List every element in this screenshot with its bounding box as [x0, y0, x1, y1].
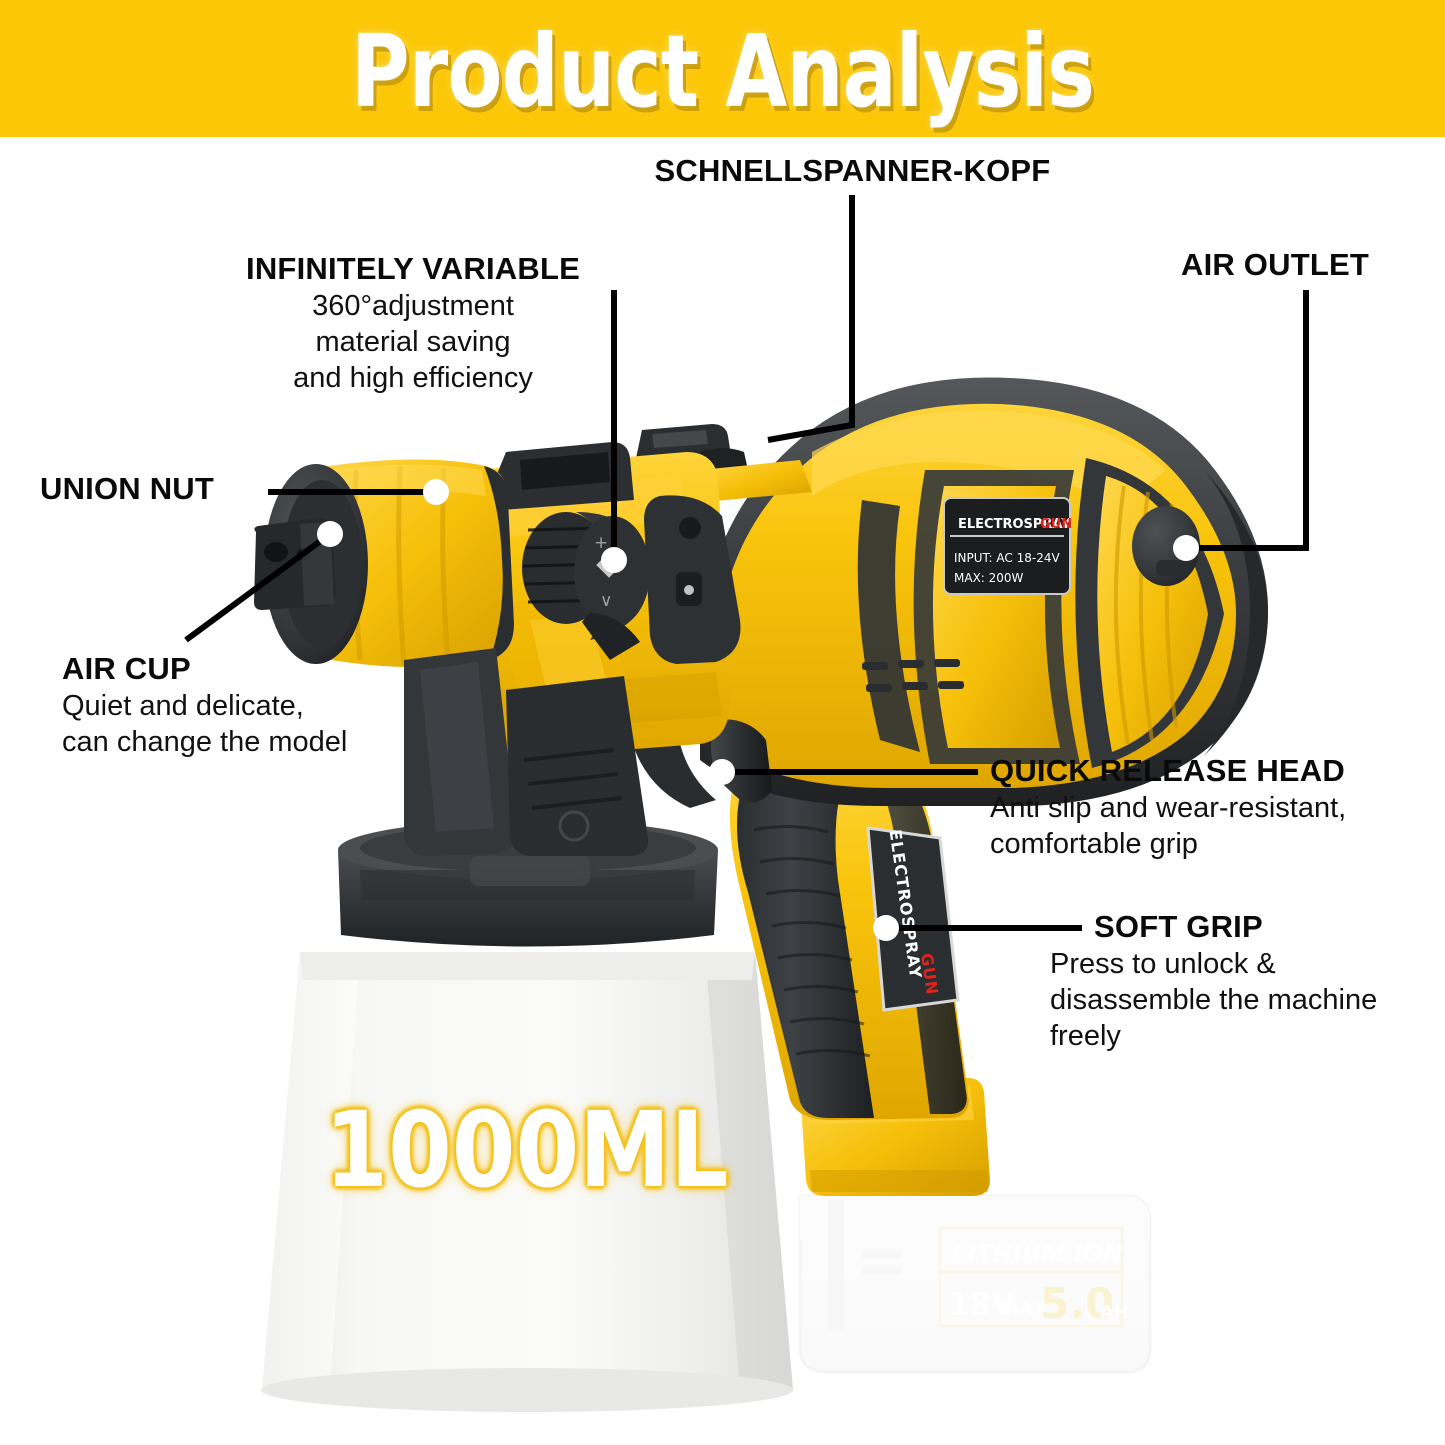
callout-body-line: can change the model	[62, 724, 462, 760]
callout-body-line: material saving	[178, 324, 648, 360]
callout-body-line: 360°adjustment	[178, 288, 648, 324]
callout-title: INFINITELY VARIABLE	[178, 250, 648, 288]
callout-soft-grip: SOFT GRIP Press to unlock & disassemble …	[1094, 908, 1445, 1054]
callout-title: SOFT GRIP	[1094, 908, 1445, 946]
callout-title: UNION NUT	[40, 470, 280, 508]
callout-body-line: disassemble the machine	[1050, 982, 1445, 1018]
svg-text:∨: ∨	[600, 591, 612, 611]
callout-body: Press to unlock & disassemble the machin…	[1050, 946, 1445, 1054]
svg-text:INPUT: AC 18-24V: INPUT: AC 18-24V	[954, 551, 1060, 565]
callout-air-outlet: AIR OUTLET	[1120, 246, 1430, 284]
callout-quick-release-head: QUICK RELEASE HEAD Anti slip and wear-re…	[990, 752, 1440, 862]
svg-text:GUN: GUN	[1040, 517, 1072, 532]
callout-body-line: and high efficiency	[178, 360, 648, 396]
callout-body-line: comfortable grip	[990, 826, 1440, 862]
gun-body: ELECTROSPRAY GUN INPUT: AC 18-24V MAX: 2…	[699, 378, 1268, 806]
callout-title: AIR OUTLET	[1120, 246, 1430, 284]
side-plate	[644, 495, 741, 664]
battery-pack: LITHIUM ION 18V MAX 5.0 AH	[800, 1196, 1150, 1372]
callout-body-line: Anti slip and wear-resistant,	[990, 790, 1440, 826]
spec-plate: ELECTROSPRAY GUN INPUT: AC 18-24V MAX: 2…	[944, 498, 1072, 594]
svg-text:LITHIUM ION: LITHIUM ION	[952, 1240, 1123, 1268]
callout-body-line: Press to unlock &	[1050, 946, 1445, 982]
callout-title: AIR CUP	[62, 650, 462, 688]
callout-air-cup: AIR CUP Quiet and delicate, can change t…	[62, 650, 462, 760]
infographic-canvas: Product Analysis	[0, 0, 1445, 1445]
callout-body-line: Quiet and delicate,	[62, 688, 462, 724]
callout-body: 360°adjustment material saving and high …	[178, 288, 648, 396]
callout-body: Anti slip and wear-resistant, comfortabl…	[990, 790, 1440, 862]
svg-text:+: +	[594, 533, 608, 553]
svg-text:AH: AH	[1100, 1302, 1129, 1323]
callout-infinitely-variable: INFINITELY VARIABLE 360°adjustment mater…	[178, 250, 648, 396]
gun-handle: ELECTROSPRAY GUN	[730, 760, 969, 1120]
callout-title: QUICK RELEASE HEAD	[990, 752, 1440, 790]
volume-badge: 1000ML	[324, 1098, 711, 1202]
handle-brand-badge: ELECTROSPRAY GUN	[868, 828, 958, 1010]
callout-title: SCHNELLSPANNER-KOPF	[600, 152, 1105, 190]
nozzle-assembly	[254, 459, 514, 667]
svg-text:MAX: 200W: MAX: 200W	[954, 571, 1024, 585]
callout-body: Quiet and delicate, can change the model	[62, 688, 462, 760]
callout-body-line: freely	[1050, 1018, 1445, 1054]
callout-union-nut: UNION NUT	[40, 470, 280, 508]
callout-schnellspanner-kopf: SCHNELLSPANNER-KOPF	[600, 152, 1105, 190]
